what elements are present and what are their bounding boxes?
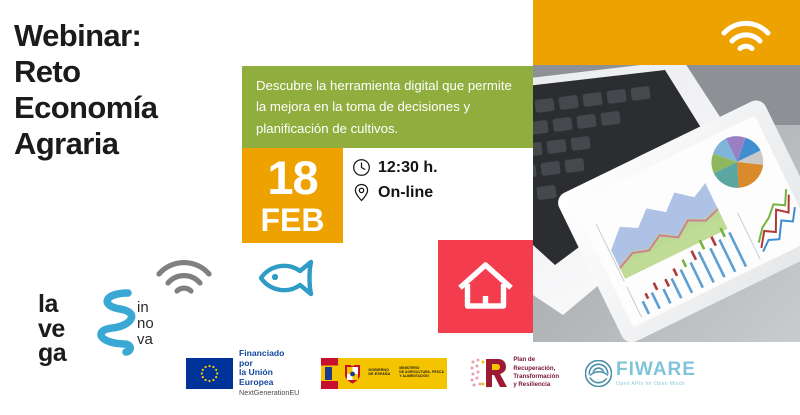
lavega-innova-logo: la ve ga in no va — [38, 292, 188, 354]
event-date-badge: 18 FEB — [242, 148, 343, 243]
gobierno-de-espana-logo: GOBIERNO DE ESPAÑA MINISTERIO DE AGRICUL… — [321, 358, 447, 389]
house-icon — [458, 260, 513, 312]
date-day: 18 — [242, 154, 343, 201]
river-squiggle-icon — [90, 288, 136, 356]
spain-flag-bar-icon — [321, 358, 338, 389]
ministerio-line-3: Y ALIMENTACIÓN — [399, 374, 445, 378]
headline-line-2: Reto — [14, 54, 239, 90]
spain-coat-of-arms-icon — [343, 362, 362, 385]
fiware-tagline: Open APIs for Open Minds — [616, 381, 696, 387]
fiware-swirl-icon — [585, 360, 612, 387]
prtr-line-1: Plan de — [513, 356, 559, 364]
description-panel: Descubre la herramienta digital que perm… — [242, 66, 533, 148]
event-location-row: On-line — [352, 180, 438, 205]
eu-flag-icon — [186, 358, 233, 389]
lavega-line-2: ve — [38, 317, 66, 342]
event-location-text: On-line — [378, 184, 433, 202]
orange-top-banner — [533, 0, 800, 65]
plan-recuperacion-logo: Plan de Recuperación, Transformación y R… — [469, 356, 559, 390]
headline-line-4: Agraria — [14, 126, 239, 162]
prtr-line-2: Recuperación, — [513, 365, 559, 373]
lavega-line-3: ga — [38, 341, 66, 366]
event-time-row: 12:30 h. — [352, 155, 438, 180]
eu-funding-logo: Financiado por la Unión Europea NextGene… — [186, 349, 299, 397]
fish-icon — [258, 258, 324, 298]
date-month: FEB — [242, 204, 343, 236]
gobierno-text: GOBIERNO DE ESPAÑA — [368, 368, 390, 378]
prtr-mark-icon — [469, 357, 508, 389]
innova-wordmark: in no va — [137, 300, 154, 348]
eu-funding-text: Financiado por la Unión Europea NextGene… — [239, 349, 299, 397]
house-tile — [438, 240, 533, 333]
wifi-icon-top — [720, 16, 772, 52]
eu-line-2: la Unión Europea — [239, 368, 299, 387]
prtr-line-3: Transformación — [513, 373, 559, 381]
fiware-logo: FIWARE Open APIs for Open Minds — [585, 360, 696, 387]
fiware-wordmark: FIWARE — [616, 360, 696, 379]
innova-line-2: no — [137, 316, 154, 332]
prtr-line-4: y Resiliencia — [513, 381, 559, 389]
plan-recuperacion-text: Plan de Recuperación, Transformación y R… — [513, 356, 559, 390]
lavega-line-1: la — [38, 292, 66, 317]
clock-icon — [352, 158, 371, 177]
headline-line-1: Webinar: — [14, 18, 239, 54]
description-text: Descubre la herramienta digital que perm… — [256, 75, 525, 139]
headline-line-3: Economía — [14, 90, 239, 126]
event-time-text: 12:30 h. — [378, 159, 438, 177]
gobierno-line-2: DE ESPAÑA — [368, 372, 390, 377]
fiware-text: FIWARE Open APIs for Open Minds — [616, 360, 696, 387]
lavega-wordmark: la ve ga — [38, 292, 66, 366]
webinar-poster: Webinar: Reto Economía Agraria Descubre … — [0, 0, 800, 415]
funder-logos: Financiado por la Unión Europea NextGene… — [186, 352, 616, 394]
event-meta: 12:30 h. On-line — [352, 155, 438, 205]
laptop-tablet-photo — [533, 65, 800, 342]
innova-line-1: in — [137, 300, 154, 316]
location-pin-icon — [352, 183, 371, 202]
wifi-icon-middle — [155, 255, 213, 295]
eu-line-3: NextGenerationEU — [239, 389, 299, 397]
innova-line-3: va — [137, 332, 154, 348]
eu-line-1: Financiado por — [239, 349, 299, 368]
ministerio-text: MINISTERIO DE AGRICULTURA, PESCA Y ALIME… — [399, 366, 445, 379]
page-title: Webinar: Reto Economía Agraria — [14, 18, 239, 162]
